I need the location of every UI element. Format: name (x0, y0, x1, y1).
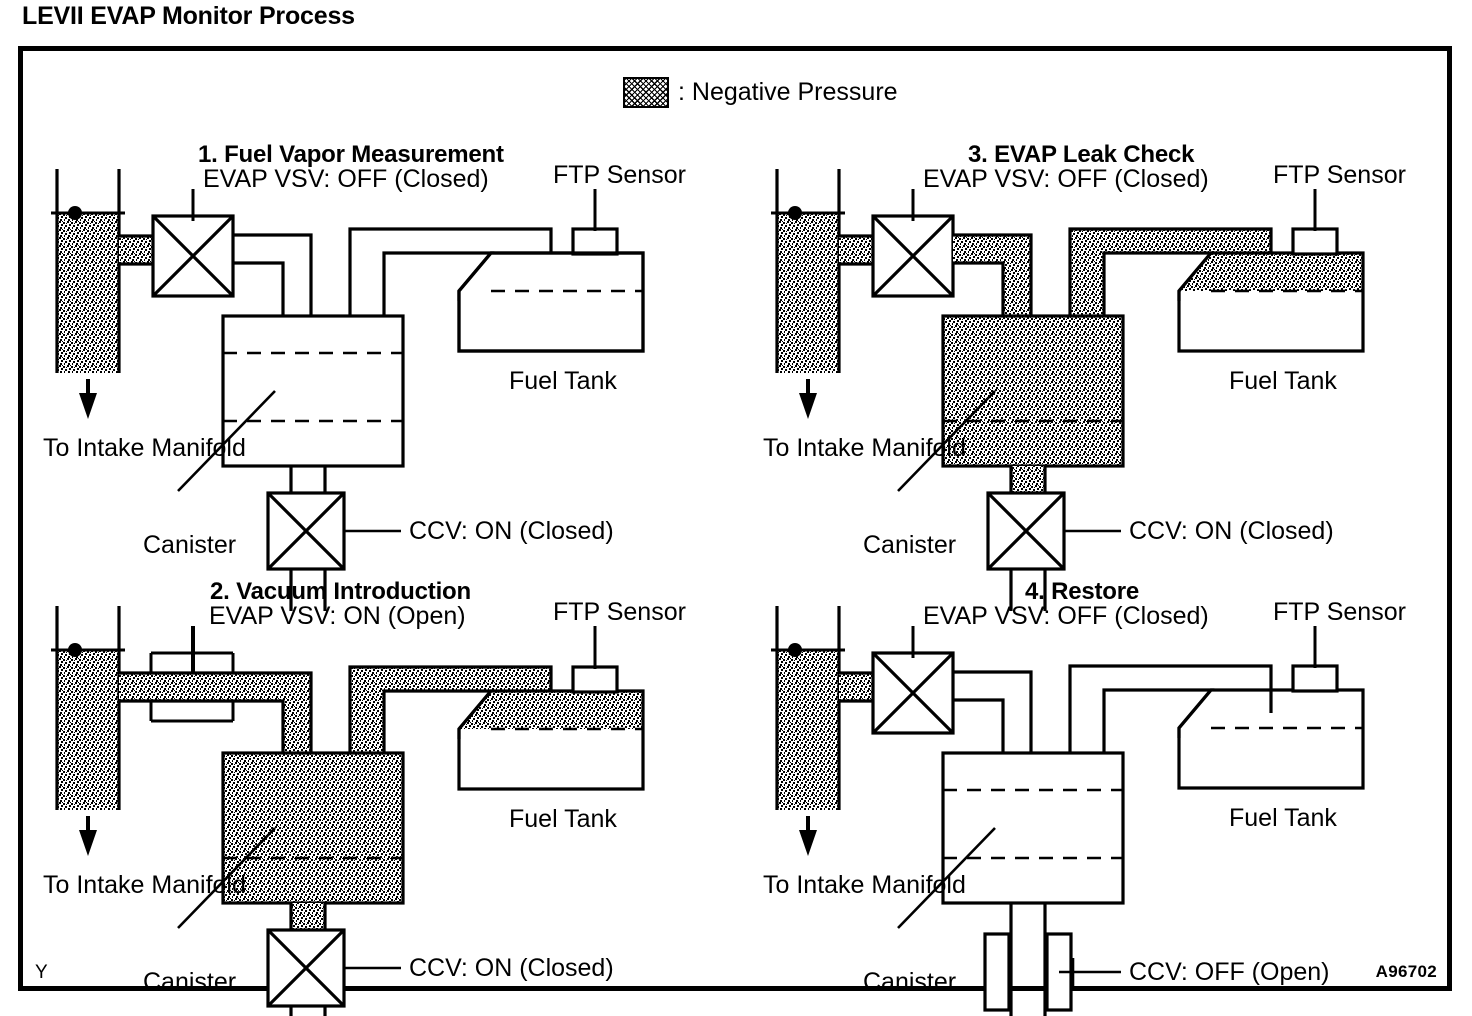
panel-1-tank-label: Fuel Tank (509, 367, 617, 395)
ftp-sensor-body (1293, 229, 1337, 254)
intake-manifold-duct (777, 213, 839, 373)
panel-1-title: 1. Fuel Vapor Measurement (198, 141, 504, 169)
evap-vsv-closed-icon (873, 189, 953, 296)
corner-mark: Y (35, 962, 48, 984)
panel-4-ccv-label: CCV: OFF (Open) (1129, 958, 1330, 986)
throttle-valve-icon (68, 643, 82, 657)
panel-3-vsv-label: EVAP VSV: OFF (Closed) (923, 165, 1209, 193)
panel-2-ftp-label: FTP Sensor (553, 598, 686, 626)
legend: : Negative Pressure (623, 77, 898, 108)
panel-3-manifold-label: To Intake Manifold (763, 434, 966, 462)
panel-4-restore: 4. Restore (763, 578, 1443, 978)
panel-4-canister-label: Canister (863, 968, 956, 996)
hatch-swatch-icon (623, 77, 669, 108)
panel-3-title: 3. EVAP Leak Check (968, 141, 1194, 169)
panel-2-title: 2. Vacuum Introduction (210, 578, 471, 606)
panel-2-ccv-label: CCV: ON (Closed) (409, 954, 614, 982)
intake-manifold-duct (57, 650, 119, 810)
legend-label: : Negative Pressure (678, 78, 898, 107)
panel-3-canister-label: Canister (863, 531, 956, 559)
ccv-closed-icon (988, 493, 1064, 569)
panel-1-canister-label: Canister (143, 531, 236, 559)
vsv-pipe-shaded (953, 235, 1031, 316)
panel-4-title: 4. Restore (1025, 578, 1139, 606)
panel-3-tank-label: Fuel Tank (1229, 367, 1337, 395)
panel-1-manifold-label: To Intake Manifold (43, 434, 246, 462)
evap-vsv-closed-icon (873, 626, 953, 733)
ccv-open-icon (985, 934, 1071, 1010)
panel-3-ftp-label: FTP Sensor (1273, 161, 1406, 189)
panel-1-ftp-label: FTP Sensor (553, 161, 686, 189)
panel-2-vacuum-introduction: 2. Vacuum Introduction (43, 578, 723, 978)
intake-manifold-duct (57, 213, 119, 373)
throttle-valve-icon (788, 206, 802, 220)
panel-1-fuel-vapor-measurement: 1. Fuel Vapor Measurement (43, 141, 723, 531)
figure-code: A96702 (1376, 962, 1437, 982)
ftp-sensor-body (1293, 666, 1337, 691)
canister-body (943, 753, 1123, 903)
panel-2-tank-label: Fuel Tank (509, 805, 617, 833)
throttle-valve-icon (788, 643, 802, 657)
intake-manifold-duct (777, 650, 839, 810)
panel-2-canister-label: Canister (143, 968, 236, 996)
page-title: LEVII EVAP Monitor Process (22, 2, 355, 31)
panel-4-tank-label: Fuel Tank (1229, 804, 1337, 832)
diagram-frame: : Negative Pressure 1. Fuel Vapor Measur… (18, 46, 1452, 991)
canister-body (223, 316, 403, 466)
panel-3-ccv-label: CCV: ON (Closed) (1129, 517, 1334, 545)
fuel-tank-body (459, 253, 643, 351)
panel-4-manifold-label: To Intake Manifold (763, 871, 966, 899)
panel-2-manifold-label: To Intake Manifold (43, 871, 246, 899)
throttle-valve-icon (68, 206, 82, 220)
panel-3-evap-leak-check: 3. EVAP Leak Check (763, 141, 1443, 531)
ftp-sensor-body (573, 667, 617, 692)
panel-4-ftp-label: FTP Sensor (1273, 598, 1406, 626)
panel-1-vsv-label: EVAP VSV: OFF (Closed) (203, 165, 489, 193)
ccv-closed-icon (268, 493, 344, 569)
canister-body (943, 316, 1123, 466)
panel-2-vsv-label: EVAP VSV: ON (Open) (209, 602, 466, 630)
panel-1-ccv-label: CCV: ON (Closed) (409, 517, 614, 545)
canister-body (223, 753, 403, 903)
ccv-closed-icon (268, 930, 344, 1006)
evap-vsv-closed-icon (153, 189, 233, 296)
panel-4-vsv-label: EVAP VSV: OFF (Closed) (923, 602, 1209, 630)
ftp-sensor-body (573, 229, 617, 254)
